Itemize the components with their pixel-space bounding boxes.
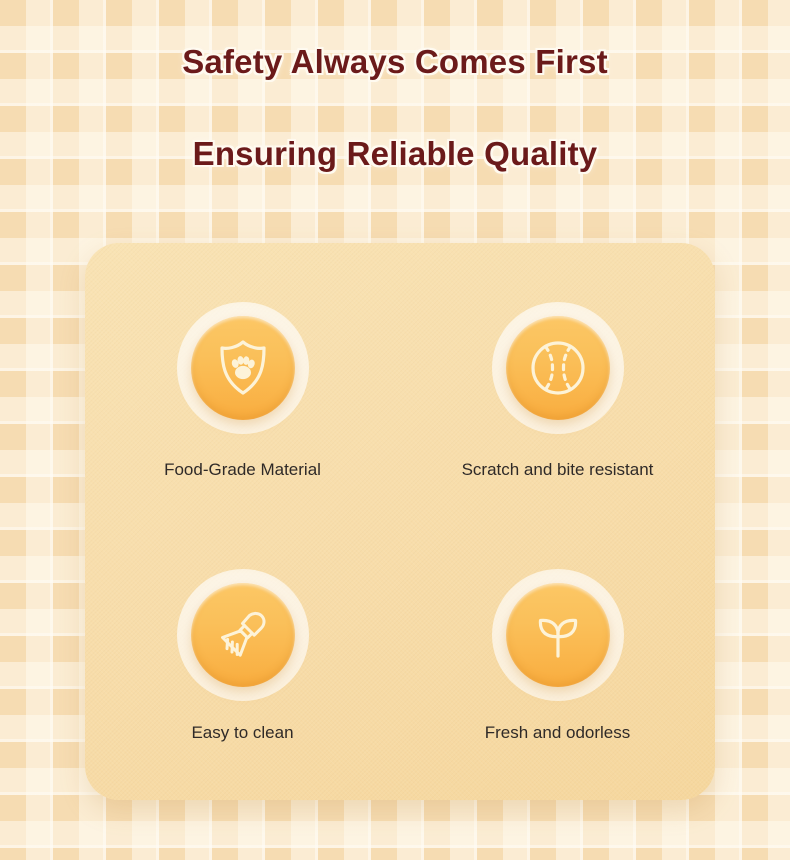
feature-label: Scratch and bite resistant <box>462 460 654 480</box>
feature-label: Food-Grade Material <box>164 460 321 480</box>
icon-circle <box>191 583 295 687</box>
feature-label: Easy to clean <box>191 723 293 743</box>
icon-circle <box>191 316 295 420</box>
feature-card: Food-Grade Material Scr <box>85 243 715 800</box>
feature-grid: Food-Grade Material Scr <box>85 243 715 800</box>
icon-circle <box>506 583 610 687</box>
feature-item-scratch-and-bite-resistant[interactable]: Scratch and bite resistant <box>400 243 715 522</box>
feature-label: Fresh and odorless <box>485 723 631 743</box>
headline-primary: Safety Always Comes First <box>0 44 790 80</box>
headline-group: Safety Always Comes First Ensuring Relia… <box>0 44 790 173</box>
shield-paw-icon <box>216 338 270 398</box>
promo-banner: Safety Always Comes First Ensuring Relia… <box>0 0 790 860</box>
icon-halo <box>492 569 624 701</box>
icon-circle <box>506 316 610 420</box>
feature-item-fresh-and-odorless[interactable]: Fresh and odorless <box>400 522 715 801</box>
icon-halo <box>492 302 624 434</box>
icon-halo <box>177 302 309 434</box>
icon-halo <box>177 569 309 701</box>
broom-icon <box>214 606 272 664</box>
feature-item-food-grade-material[interactable]: Food-Grade Material <box>85 243 400 522</box>
feature-item-easy-to-clean[interactable]: Easy to clean <box>85 522 400 801</box>
baseball-icon <box>529 339 587 397</box>
headline-secondary: Ensuring Reliable Quality <box>0 136 790 172</box>
sprout-icon <box>530 606 586 664</box>
